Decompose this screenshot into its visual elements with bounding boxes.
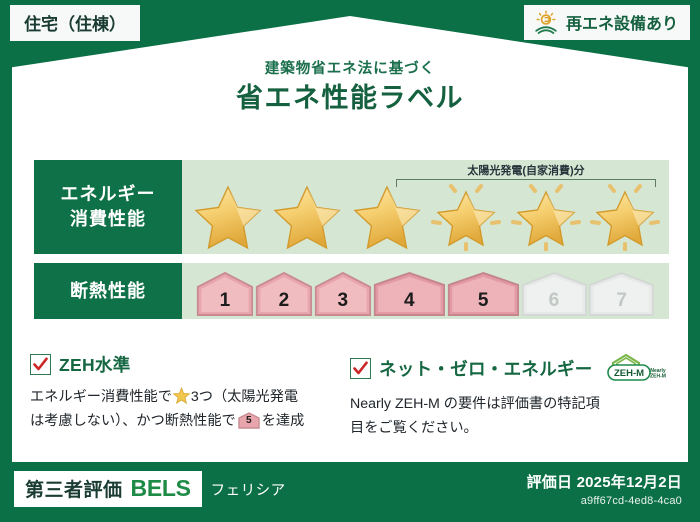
criterion-zeh-text-part2: 3つ（太陽光発電 xyxy=(191,389,298,405)
insulation-level-badge: 2 xyxy=(255,271,313,316)
insulation-level-scale: 1 2 3 xyxy=(196,267,655,316)
svg-text:ZEH-M: ZEH-M xyxy=(614,368,644,379)
building-type-tag-label: 住宅（住棟） xyxy=(24,15,126,34)
star-icon xyxy=(173,387,190,404)
criterion-zeh-header: ZEH水準 xyxy=(30,352,336,377)
insulation-level-inline-number: 5 xyxy=(238,412,260,429)
third-party-evaluation-label: 第三者評価 xyxy=(25,475,123,502)
evaluation-date-label: 評価日 xyxy=(527,474,573,491)
insulation-level-badge-inactive: 7 xyxy=(588,271,655,316)
criterion-zeh-title: ZEH水準 xyxy=(59,352,131,377)
energy-performance-label-line2: 消費性能 xyxy=(70,207,146,232)
energy-performance-label: パナステム 住宅（住棟） 再エネ設備あり 建築物省エネ法 xyxy=(0,0,700,522)
evaluation-date-value: 2025年12月2日 xyxy=(577,474,682,491)
solar-annotation-label: 太陽光発電(自家消費)分 xyxy=(390,162,662,178)
label-footer: 第三者評価 BELS フェリシア 評価日 2025年12月2日 a9ff67cd… xyxy=(0,462,700,522)
insulation-level-badge-inactive: 6 xyxy=(521,271,588,316)
criterion-nze-title: ネット・ゼロ・エネルギー xyxy=(379,356,593,381)
insulation-level-badge: 4 xyxy=(373,271,446,316)
criteria-section: ZEH水準 エネルギー消費性能で3つ（太陽光発電は考慮しない）、かつ断熱性能で5… xyxy=(30,352,670,441)
footer-evaluation-block: 評価日 2025年12月2日 a9ff67cd-4ed8-4ca0 xyxy=(527,471,686,507)
solar-sun-icon xyxy=(533,10,559,34)
insulation-performance-label-box: 断熱性能 xyxy=(34,263,182,319)
criterion-nze-text-line1: Nearly ZEH-M の要件は評価書の特記項 xyxy=(350,396,600,412)
criterion-net-zero-energy: ネット・ゼロ・エネルギー ZEH-M Nearly ZEH-M Nearly Z… xyxy=(350,352,670,441)
builder-name: フェリシア xyxy=(211,479,286,500)
energy-performance-label-line1: エネルギー xyxy=(61,182,156,207)
star-icon xyxy=(269,179,345,251)
checkbox-checked-icon xyxy=(350,358,371,379)
insulation-performance-label: 断熱性能 xyxy=(70,279,146,304)
star-rating xyxy=(188,178,665,252)
evaluation-id: a9ff67cd-4ed8-4ca0 xyxy=(527,495,682,507)
criterion-nze-header: ネット・ゼロ・エネルギー ZEH-M Nearly ZEH-M xyxy=(350,352,656,384)
energy-performance-row: エネルギー 消費性能 太陽光発電(自家消費)分 xyxy=(34,160,669,254)
insulation-performance-body: 1 2 3 xyxy=(182,263,669,319)
star-icon xyxy=(349,179,425,251)
insulation-level-badge: 1 xyxy=(196,271,254,316)
zeh-m-house-logo-icon: ZEH-M Nearly ZEH-M xyxy=(605,352,667,384)
star-shining-icon xyxy=(428,179,504,251)
label-main-title: 省エネ性能ラベル xyxy=(0,81,700,116)
renewable-energy-badge-label: 再エネ設備あり xyxy=(566,10,678,34)
label-title-block: 建築物省エネ法に基づく 省エネ性能ラベル xyxy=(0,60,700,115)
criterion-zeh-text-part3: を達成 xyxy=(262,413,305,429)
criterion-zeh-description: エネルギー消費性能で3つ（太陽光発電は考慮しない）、かつ断熱性能で5を達成 xyxy=(30,385,336,434)
energy-performance-label-box: エネルギー 消費性能 xyxy=(34,160,182,254)
insulation-level-badge: 3 xyxy=(314,271,372,316)
criterion-nze-text-line2: 目をご覧ください。 xyxy=(350,420,478,436)
building-type-tag: 住宅（住棟） xyxy=(10,5,140,41)
star-icon xyxy=(190,179,266,251)
renewable-energy-badge: 再エネ設備あり xyxy=(524,5,690,40)
criterion-zeh-text-line2: は考慮しない）、かつ断熱性能で xyxy=(30,413,236,429)
criterion-zeh-standard: ZEH水準 エネルギー消費性能で3つ（太陽光発電は考慮しない）、かつ断熱性能で5… xyxy=(30,352,350,441)
bels-certification-box: 第三者評価 BELS xyxy=(14,471,202,507)
label-subtitle: 建築物省エネ法に基づく xyxy=(0,60,700,79)
evaluation-date: 評価日 2025年12月2日 xyxy=(527,471,682,492)
insulation-performance-row: 断熱性能 1 xyxy=(34,263,669,319)
energy-performance-body: 太陽光発電(自家消費)分 xyxy=(182,160,669,254)
svg-text:ZEH-M: ZEH-M xyxy=(650,374,666,380)
checkbox-checked-icon xyxy=(30,354,51,375)
star-shining-icon xyxy=(587,179,663,251)
bels-logo-text: BELS xyxy=(131,475,191,502)
insulation-level-inline-badge: 5 xyxy=(238,412,260,429)
criterion-zeh-text-part1: エネルギー消費性能で xyxy=(30,389,172,405)
footer-certification-block: 第三者評価 BELS フェリシア xyxy=(14,471,286,507)
star-shining-icon xyxy=(508,179,584,251)
criterion-nze-description: Nearly ZEH-M の要件は評価書の特記項目をご覧ください。 xyxy=(350,392,656,441)
performance-rows: エネルギー 消費性能 太陽光発電(自家消費)分 xyxy=(34,160,669,328)
insulation-level-badge: 5 xyxy=(447,271,520,316)
